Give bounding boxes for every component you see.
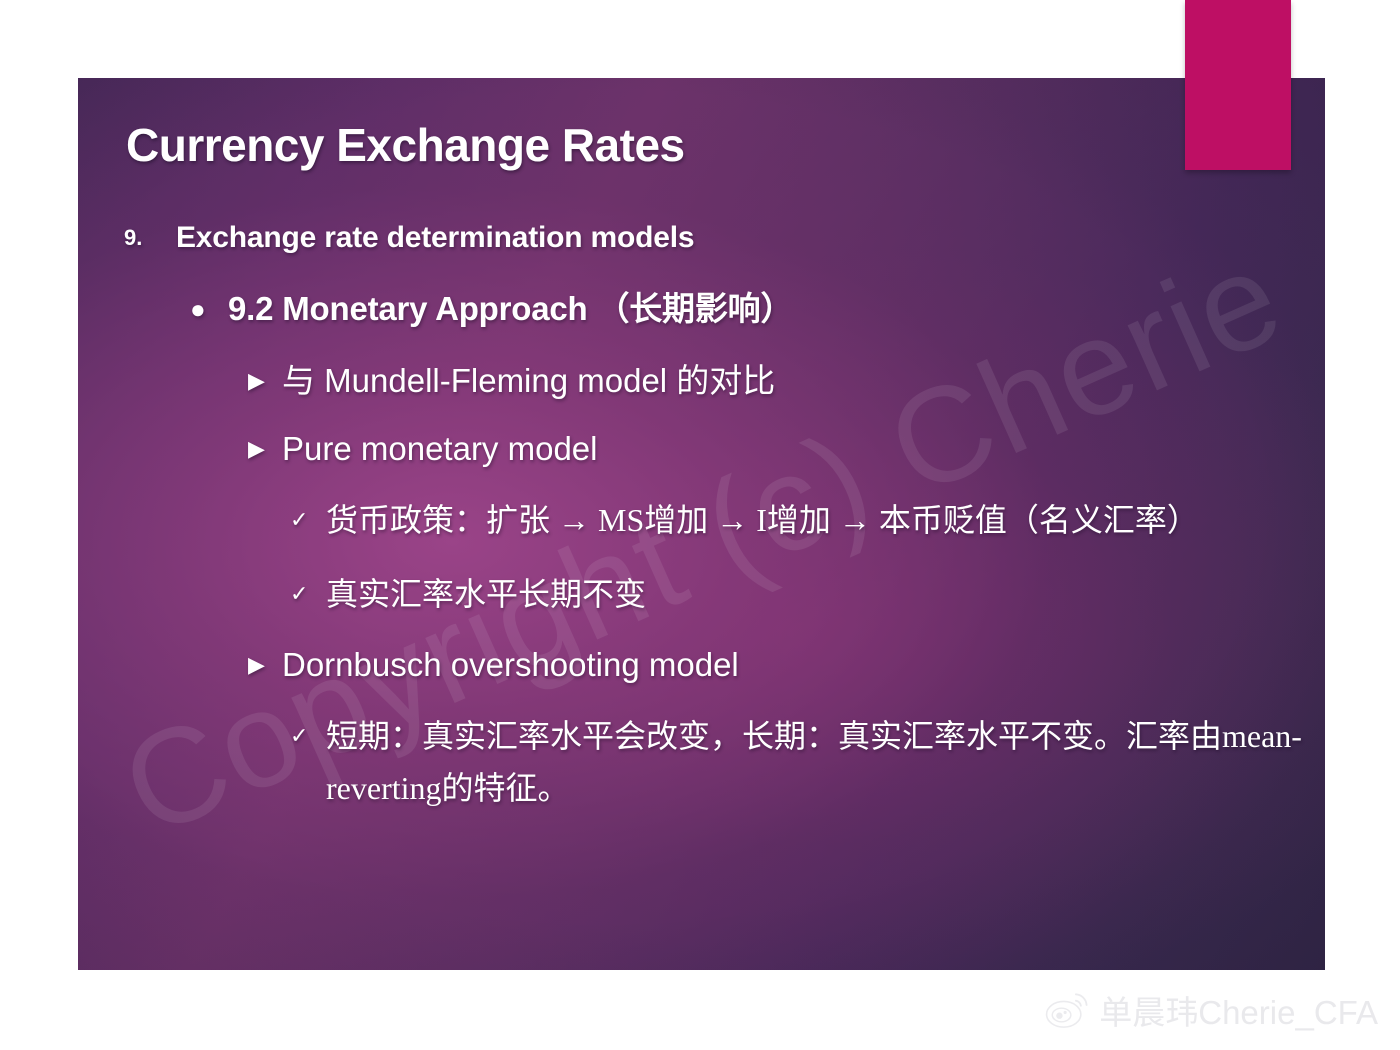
bullet-item-level4: ✓ 真实汇率水平长期不变: [78, 568, 1325, 620]
slide-content: Currency Exchange Rates 9. Exchange rate…: [78, 78, 1325, 970]
disc-bullet-icon: ●: [190, 286, 228, 332]
weibo-watermark: 单晨玮Cherie_CFA: [1045, 986, 1378, 1034]
bullet-item-level3: ▶ Pure monetary model: [78, 426, 1325, 472]
check-bullet-icon: ✓: [290, 494, 326, 546]
slide-page: Copyright (c) Cherie Currency Exchange R…: [0, 0, 1400, 1050]
bullet-item-level3: ▶ Dornbusch overshooting model: [78, 642, 1325, 688]
bullet-item-level3: ▶ 与 Mundell-Fleming model 的对比: [78, 358, 1325, 404]
triangle-bullet-icon: ▶: [248, 426, 282, 472]
accent-bar-decoration: [1185, 0, 1291, 170]
slide-body: Copyright (c) Cherie Currency Exchange R…: [78, 78, 1325, 970]
bullet-text: 短期：真实汇率水平会改变，长期：真实汇率水平不变。汇率由mean-reverti…: [326, 710, 1325, 814]
triangle-bullet-icon: ▶: [248, 642, 282, 688]
bullet-list: 9. Exchange rate determination models ● …: [78, 218, 1325, 836]
bullet-item-level4: ✓ 货币政策：扩张 → MS增加 → I增加 → 本币贬值（名义汇率）: [78, 494, 1325, 546]
weibo-logo-icon: [1045, 990, 1091, 1030]
bullet-text: Dornbusch overshooting model: [282, 642, 739, 688]
bullet-text: 货币政策：扩张 → MS增加 → I增加 → 本币贬值（名义汇率）: [326, 494, 1199, 546]
weibo-handle-label: 单晨玮Cherie_CFA: [1099, 986, 1378, 1034]
bullet-text: Exchange rate determination models: [176, 218, 694, 258]
bullet-text: Pure monetary model: [282, 426, 597, 472]
check-bullet-icon: ✓: [290, 710, 326, 762]
triangle-bullet-icon: ▶: [248, 358, 282, 404]
bullet-text: 真实汇率水平长期不变: [326, 568, 646, 620]
number-marker-icon: 9.: [124, 218, 176, 258]
bullet-item-level1: 9. Exchange rate determination models: [78, 218, 1325, 258]
page-title: Currency Exchange Rates: [126, 118, 685, 172]
bullet-text: 9.2 Monetary Approach （长期影响）: [228, 286, 793, 332]
bullet-text: 与 Mundell-Fleming model 的对比: [282, 358, 775, 404]
bullet-item-level2: ● 9.2 Monetary Approach （长期影响）: [78, 286, 1325, 332]
bullet-item-level4: ✓ 短期：真实汇率水平会改变，长期：真实汇率水平不变。汇率由mean-rever…: [78, 710, 1325, 814]
check-bullet-icon: ✓: [290, 568, 326, 620]
